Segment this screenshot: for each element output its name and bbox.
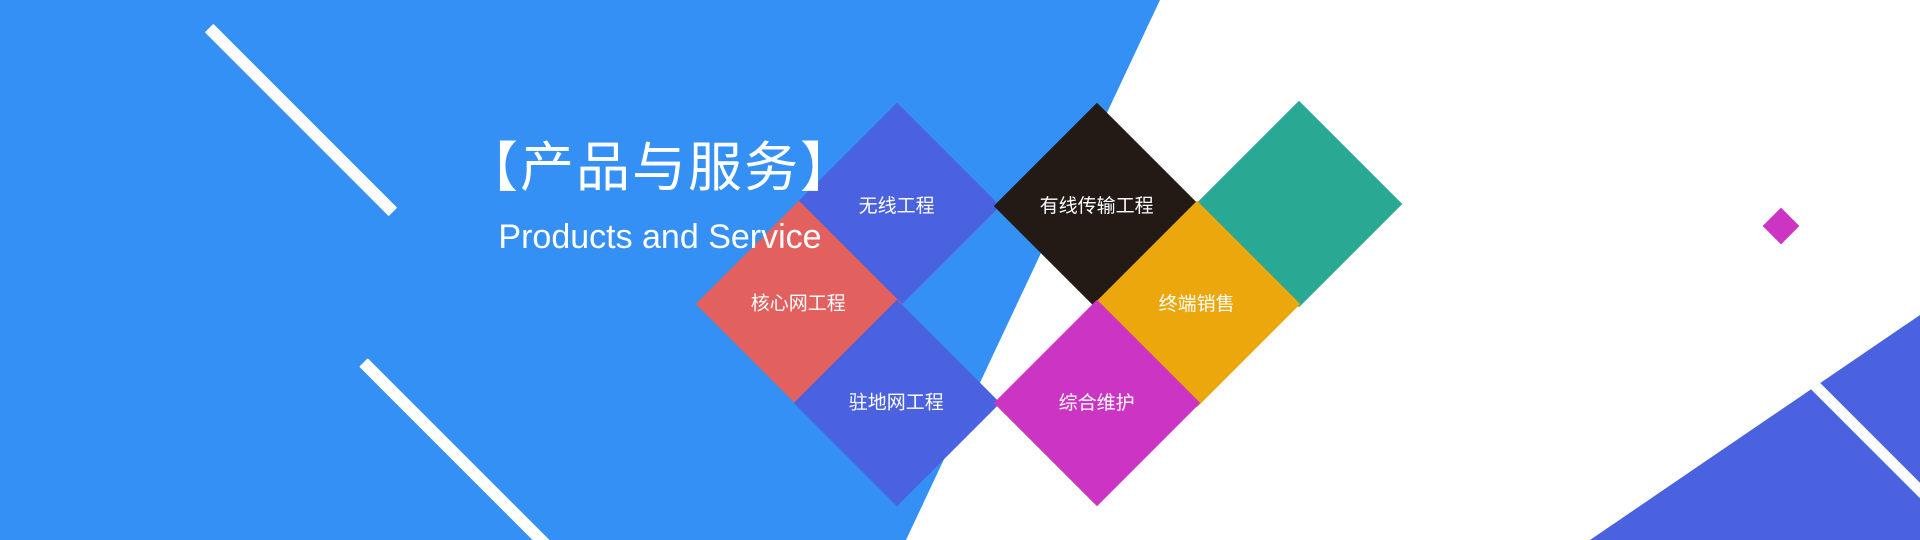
page-title: 【产品与服务】 bbox=[450, 140, 870, 197]
corner-diagonal-stripe-icon bbox=[1762, 333, 1920, 518]
service-tile-label: 有线传输工程 bbox=[1040, 196, 1154, 215]
small-accent-diamond-icon bbox=[1763, 208, 1800, 245]
corner-wedge-decoration bbox=[1590, 315, 1920, 540]
service-tile-label: 综合维护 bbox=[1059, 393, 1135, 412]
products-and-service-banner: 【产品与服务】 Products and Service 无线工程有线传输工程核… bbox=[0, 0, 1920, 540]
headline-block: 【产品与服务】 Products and Service bbox=[450, 140, 870, 256]
service-tile-label: 无线工程 bbox=[859, 196, 935, 215]
page-subtitle: Products and Service bbox=[450, 219, 870, 256]
blue-background-panel bbox=[0, 0, 1160, 540]
service-tile-label: 终端销售 bbox=[1159, 294, 1235, 313]
service-tile-label: 核心网工程 bbox=[751, 294, 846, 313]
service-tile-label: 驻地网工程 bbox=[849, 393, 944, 412]
